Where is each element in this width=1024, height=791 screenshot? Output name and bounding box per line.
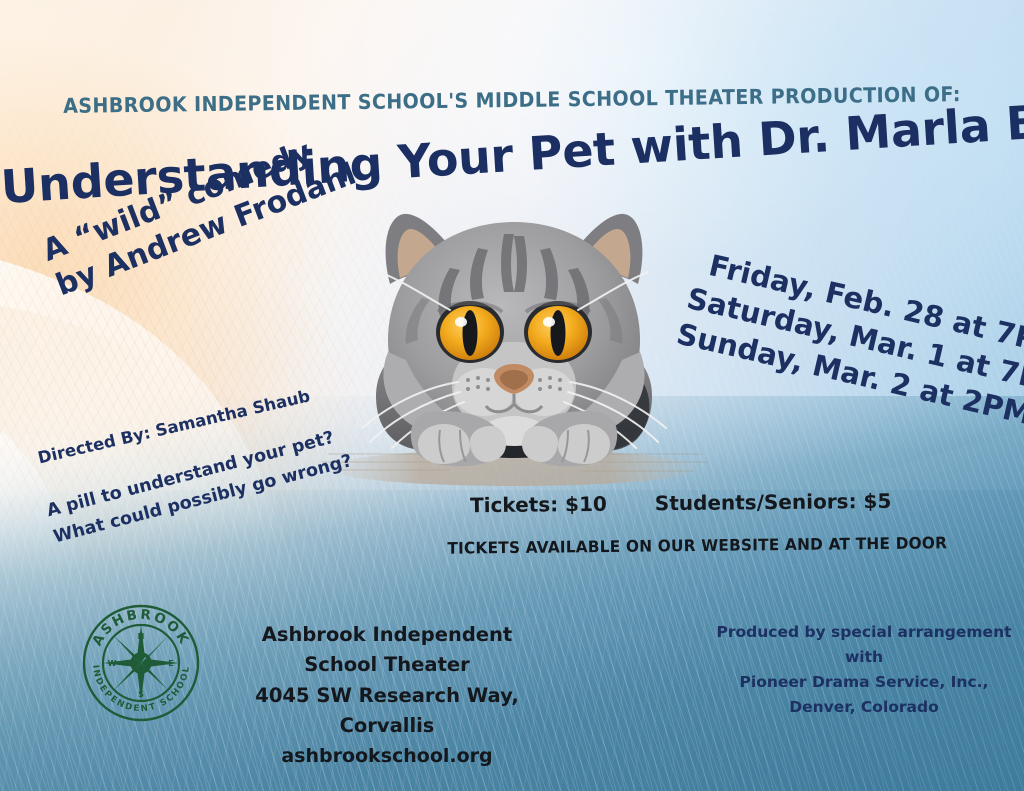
- ashbrook-school-logo: ASHBROOK INDEPENDENT SCHOOL N: [80, 602, 202, 724]
- producer-line-3: Denver, Colorado: [714, 695, 1014, 720]
- ticket-price-discount: Students/Seniors: $5: [655, 489, 892, 515]
- ticket-prices: Tickets: $10 Students/Seniors: $5: [470, 489, 892, 517]
- compass-north-label: N: [138, 632, 145, 641]
- ticket-price-general: Tickets: $10: [470, 492, 607, 517]
- showtimes-list: Friday, Feb. 28 at 7PM Saturday, Mar. 1 …: [675, 244, 1024, 440]
- producer-line-1: Produced by special arrangement with: [714, 620, 1014, 670]
- compass-south-label: S: [138, 690, 144, 699]
- venue-website[interactable]: ashbrookschool.org: [222, 742, 552, 772]
- venue-name: Ashbrook Independent School Theater: [222, 620, 552, 681]
- compass-east-label: E: [168, 659, 173, 668]
- ticket-availability-note: TICKETS AVAILABLE ON OUR WEBSITE AND AT …: [447, 533, 947, 557]
- producer-credit: Produced by special arrangement with Pio…: [714, 620, 1014, 720]
- venue-info: Ashbrook Independent School Theater 4045…: [222, 620, 552, 771]
- producer-line-2: Pioneer Drama Service, Inc.,: [714, 670, 1014, 695]
- venue-address: 4045 SW Research Way, Corvallis: [222, 681, 552, 742]
- compass-west-label: W: [108, 659, 117, 668]
- theater-production-poster: ASHBROOK INDEPENDENT SCHOOL'S MIDDLE SCH…: [0, 0, 1024, 791]
- cat-illustration: [318, 192, 710, 502]
